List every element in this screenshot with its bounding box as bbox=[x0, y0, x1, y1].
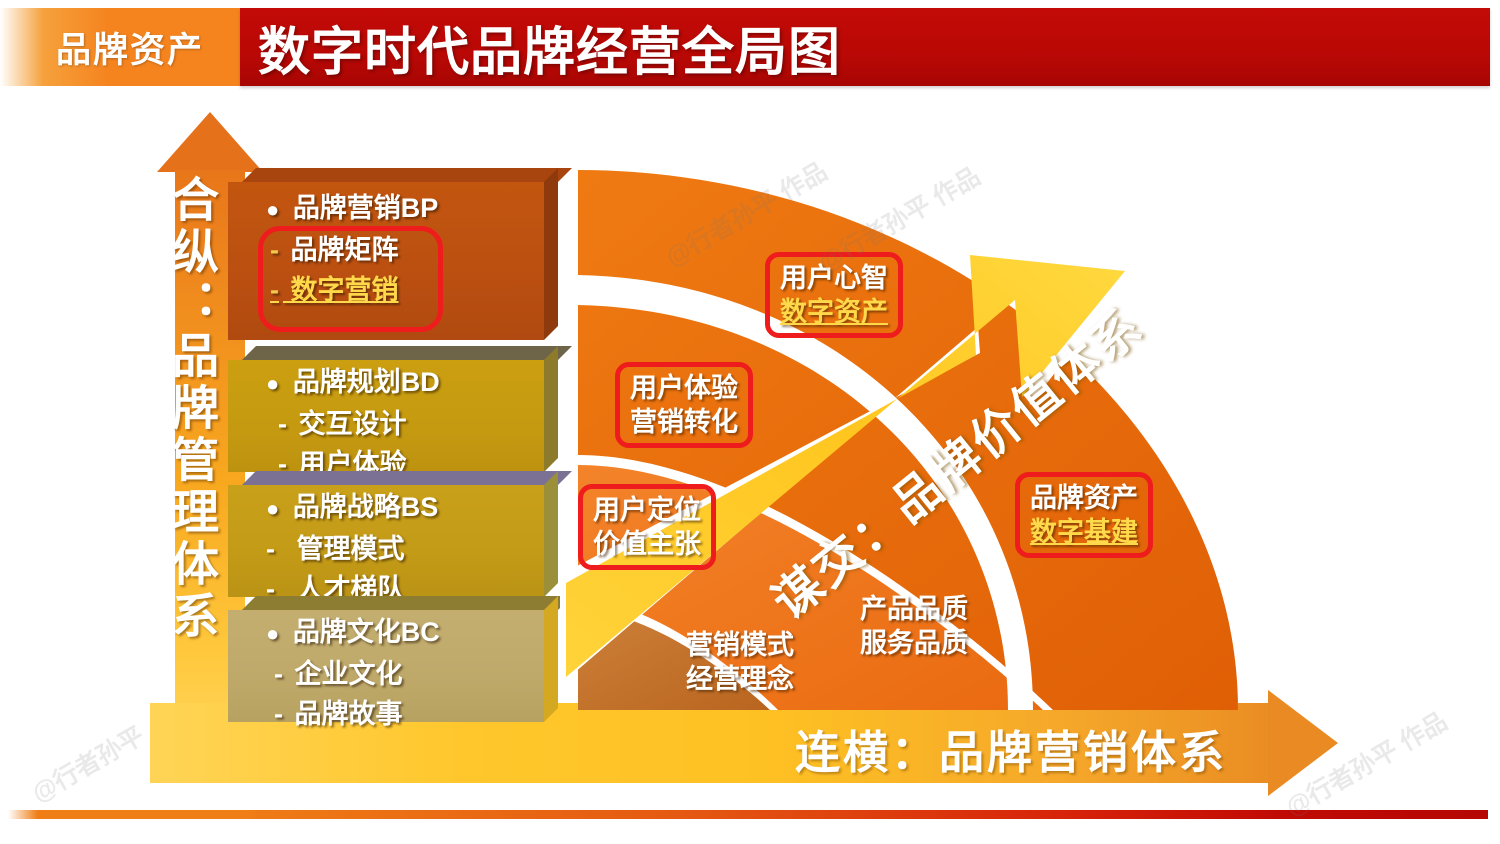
box-item-line: - 企业文化 bbox=[266, 654, 544, 694]
header-tag-label: 品牌资产 bbox=[30, 8, 230, 86]
arc-label-line2: 营销转化 bbox=[630, 405, 738, 439]
arc-label-line1: 用户心智 bbox=[780, 263, 888, 293]
horizontal-axis-label: 连横：品牌营销体系 bbox=[795, 716, 1227, 781]
box-top-face bbox=[242, 471, 572, 485]
watermark: @行者孙平 bbox=[24, 716, 150, 809]
page-title: 数字时代品牌经营全局图 bbox=[258, 11, 841, 83]
arc-label-line2: 价值主张 bbox=[593, 527, 701, 561]
dash-icon: - bbox=[270, 275, 279, 305]
bullet-icon: ● bbox=[266, 496, 279, 521]
box-side-face bbox=[544, 471, 558, 597]
arrow-head-up-icon bbox=[157, 112, 263, 172]
box-title-line: ● 品牌文化BC bbox=[266, 612, 544, 654]
vertical-axis-label: 合纵：品牌管理体系 bbox=[160, 175, 226, 643]
box-top-face bbox=[242, 168, 572, 182]
box-item-line: - 交互设计 bbox=[266, 404, 544, 444]
box-title-line: ● 品牌战略BS bbox=[266, 487, 544, 529]
brand-management-stack: ● 品牌营销BP - 品牌矩阵 - 数字营销 ● bbox=[228, 168, 573, 713]
dash-icon: - bbox=[274, 699, 283, 729]
box-item-line: - 管理模式 bbox=[266, 529, 544, 569]
box-item-label: 交互设计 bbox=[299, 409, 407, 439]
box-side-face bbox=[544, 346, 558, 472]
arc-label-line1: 用户体验 bbox=[630, 373, 738, 403]
box-title: 品牌文化BC bbox=[293, 617, 440, 647]
box-title: 品牌规划BD bbox=[293, 367, 440, 397]
box-item-label: 品牌矩阵 bbox=[291, 235, 399, 265]
box-side-face bbox=[544, 168, 558, 340]
arc-label-marketing-model: 营销模式 经营理念 bbox=[686, 628, 794, 696]
arrow-head-right-icon bbox=[1268, 690, 1338, 796]
arc-label-line2: 数字资产 bbox=[780, 295, 888, 329]
dash-icon: - bbox=[270, 235, 279, 265]
box-item-line: - 品牌矩阵 bbox=[266, 230, 544, 270]
box-item-label: 数字营销 bbox=[291, 275, 399, 305]
dash-icon: - bbox=[274, 659, 283, 689]
footer-divider bbox=[8, 810, 1488, 819]
box-item-line-highlight: - 数字营销 bbox=[266, 270, 544, 310]
box-title: 品牌营销BP bbox=[293, 193, 439, 223]
arc-label-line1: 营销模式 bbox=[686, 630, 794, 660]
box-title-line: ● 品牌规划BD bbox=[266, 362, 544, 404]
arc-label-user-positioning: 用户定位 价值主张 bbox=[578, 484, 716, 570]
box-item-label: 品牌故事 bbox=[295, 699, 403, 729]
box-title-line: ● 品牌营销BP bbox=[266, 188, 544, 230]
box-top-face bbox=[242, 346, 572, 360]
box-top-face bbox=[242, 596, 572, 610]
arc-label-line1: 用户定位 bbox=[593, 495, 701, 525]
header-tag-background: 品牌资产 bbox=[0, 8, 240, 86]
bullet-icon: ● bbox=[266, 371, 279, 396]
bullet-icon: ● bbox=[266, 197, 279, 222]
arc-label-user-mind: 用户心智 数字资产 bbox=[765, 252, 903, 338]
dash-icon: - bbox=[266, 534, 275, 564]
slide-canvas: 品牌资产 数字时代品牌经营全局图 合纵：品牌管理体系 连横：品牌营销体系 bbox=[0, 0, 1500, 844]
box-side-face bbox=[544, 596, 558, 722]
box-item-label: 管理模式 bbox=[297, 534, 405, 564]
box-item-label: 企业文化 bbox=[295, 659, 403, 689]
bullet-icon: ● bbox=[266, 621, 279, 646]
slide-header: 品牌资产 数字时代品牌经营全局图 bbox=[0, 8, 1500, 86]
arc-label-line2: 经营理念 bbox=[686, 662, 794, 696]
box-title: 品牌战略BS bbox=[293, 492, 439, 522]
arc-label-user-experience: 用户体验 营销转化 bbox=[615, 362, 753, 448]
dash-icon: - bbox=[278, 409, 287, 439]
box-item-line: - 品牌故事 bbox=[266, 694, 544, 734]
